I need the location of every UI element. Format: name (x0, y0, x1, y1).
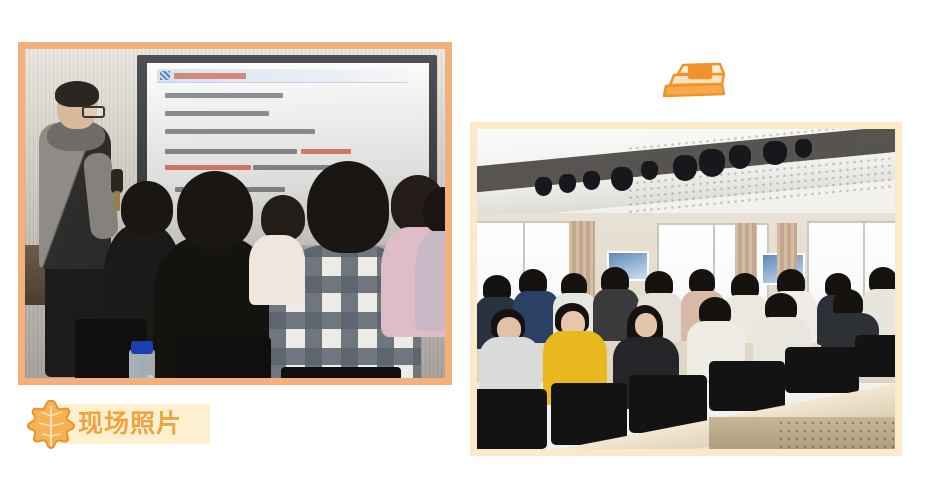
seat-back (551, 383, 627, 445)
stage-light-icon (699, 149, 725, 177)
microphone-handle (114, 191, 120, 211)
desk-perforation (777, 419, 895, 449)
audience-torso (415, 231, 445, 331)
stage-light-icon (559, 174, 576, 193)
audience-torso (249, 235, 305, 305)
book-stack-icon (652, 54, 742, 110)
stage-light-icon (641, 161, 658, 180)
photo-image-audience (477, 129, 895, 449)
stage-light-icon (583, 171, 600, 190)
caption-label: 现场照片 (78, 407, 210, 441)
seat-back (785, 347, 859, 393)
seat-back (477, 389, 547, 449)
stage-light-icon (729, 145, 751, 169)
oak-leaf-icon (24, 398, 80, 450)
presenter-glasses (82, 106, 105, 118)
water-bottle-cap (131, 341, 153, 354)
stage-light-icon (535, 177, 552, 196)
microphone-icon (111, 169, 123, 193)
audience-face (635, 313, 657, 337)
presenter-hair (55, 81, 99, 107)
stage-light-icon (763, 141, 787, 165)
caption-block: 现场照片 (24, 398, 210, 450)
chair-back (175, 337, 271, 378)
photo-image-lecture (25, 49, 445, 378)
audience-head (307, 161, 389, 253)
audience-head (121, 181, 173, 235)
audience-head (689, 269, 715, 293)
photo-card-audience[interactable] (470, 122, 902, 456)
stage-light-icon (795, 139, 812, 158)
seat-back (855, 335, 895, 377)
chair-back (281, 367, 401, 378)
audience-head (177, 171, 253, 249)
seat-back (709, 361, 785, 411)
stage-light-icon (673, 155, 697, 181)
photo-card-lecture[interactable] (18, 42, 452, 385)
stage-light-icon (611, 167, 633, 191)
